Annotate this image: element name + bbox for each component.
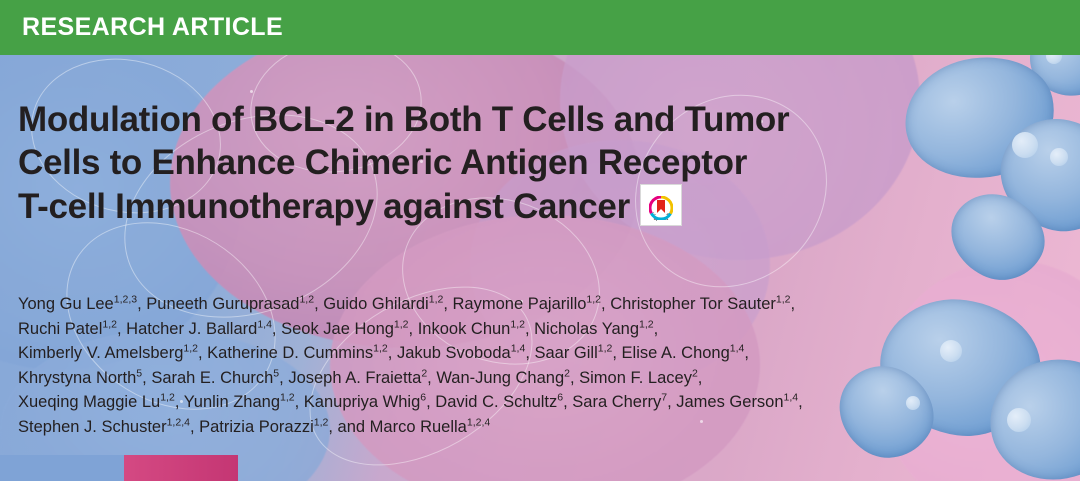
- author-name: Nicholas Yang: [534, 320, 639, 338]
- author-affiliation-marker: 1,4: [257, 318, 272, 330]
- author-name: Stephen J. Schuster: [18, 418, 167, 436]
- author-affiliation-marker: 1,2: [373, 343, 388, 355]
- crossmark-icon: [649, 187, 673, 211]
- title-line-1: Modulation of BCL-2 in Both T Cells and …: [18, 98, 1018, 141]
- author-affiliation-marker: 1,2: [586, 294, 601, 306]
- author-name: Joseph A. Fraietta: [288, 369, 421, 387]
- author-separator: ,: [563, 393, 572, 411]
- author-affiliation-marker: 1,4: [784, 392, 799, 404]
- author-separator: ,: [426, 393, 435, 411]
- author-line: Ruchi Patel1,2, Hatcher J. Ballard1,4, S…: [18, 317, 1038, 342]
- author-affiliation-marker: 1,2: [160, 392, 175, 404]
- author-name: Kimberly V. Amelsberg: [18, 344, 183, 362]
- author-affiliation-marker: 1,2: [510, 318, 525, 330]
- author-affiliation-marker: 1,2,3: [114, 294, 137, 306]
- author-name: Christopher Tor Sauter: [610, 295, 776, 313]
- author-name: David C. Schultz: [435, 393, 557, 411]
- author-separator: ,: [295, 393, 304, 411]
- author-affiliation-marker: 1,2: [598, 343, 613, 355]
- author-separator: ,: [142, 369, 151, 387]
- author-affiliation-marker: 1,2,4: [167, 416, 190, 428]
- author-list: Yong Gu Lee1,2,3, Puneeth Guruprasad1,2,…: [18, 292, 1038, 440]
- author-affiliation-marker: 1,2: [314, 416, 329, 428]
- author-name: Sarah E. Church: [151, 369, 273, 387]
- author-separator: ,: [409, 320, 418, 338]
- author-name: Raymone Pajarillo: [453, 295, 587, 313]
- title-line-2: Cells to Enhance Chimeric Antigen Recept…: [18, 141, 1018, 184]
- author-affiliation-marker: 1,2: [776, 294, 791, 306]
- author-affiliation-marker: 1,2: [102, 318, 117, 330]
- article-title: Modulation of BCL-2 in Both T Cells and …: [18, 98, 1018, 228]
- author-affiliation-marker: 1,2: [429, 294, 444, 306]
- title-line-3-row: T-cell Immunotherapy against Cancer Chec…: [18, 184, 1018, 228]
- author-separator: ,: [279, 369, 288, 387]
- author-separator: ,: [570, 369, 579, 387]
- background-magenta-edge: [118, 455, 238, 481]
- author-separator: ,: [744, 344, 749, 362]
- author-name: Khrystyna North: [18, 369, 136, 387]
- author-separator: ,: [612, 344, 621, 362]
- author-separator: ,: [601, 295, 610, 313]
- author-separator: ,: [667, 393, 676, 411]
- author-separator: ,: [388, 344, 397, 362]
- author-line: Khrystyna North5, Sarah E. Church5, Jose…: [18, 366, 1038, 391]
- author-separator: ,: [198, 344, 207, 362]
- author-name: Wan-Jung Chang: [436, 369, 564, 387]
- author-name: Yunlin Zhang: [184, 393, 280, 411]
- author-name: Jakub Svoboda: [397, 344, 511, 362]
- author-affiliation-marker: 1,4: [511, 343, 526, 355]
- author-separator: , and: [328, 418, 369, 436]
- author-separator: ,: [190, 418, 199, 436]
- author-affiliation-marker: 1,4: [730, 343, 745, 355]
- author-name: Kanupriya Whig: [304, 393, 420, 411]
- author-line: Kimberly V. Amelsberg1,2, Katherine D. C…: [18, 341, 1038, 366]
- author-affiliation-marker: 1,2,4: [467, 416, 490, 428]
- research-article-banner: RESEARCH ARTICLE: [0, 0, 1080, 55]
- article-cover-page: RESEARCH ARTICLE Modulation of BCL-2 in …: [0, 0, 1080, 481]
- author-name: Puneeth Guruprasad: [146, 295, 299, 313]
- author-separator: ,: [698, 369, 703, 387]
- author-name: Ruchi Patel: [18, 320, 102, 338]
- author-separator: ,: [272, 320, 281, 338]
- author-name: Katherine D. Cummins: [207, 344, 373, 362]
- author-name: Elise A. Chong: [622, 344, 730, 362]
- background-speck: [250, 90, 253, 93]
- author-separator: ,: [427, 369, 436, 387]
- author-separator: ,: [791, 295, 796, 313]
- author-separator: ,: [175, 393, 184, 411]
- author-affiliation-marker: 1,2: [183, 343, 198, 355]
- author-separator: ,: [654, 320, 659, 338]
- author-affiliation-marker: 1,2: [639, 318, 654, 330]
- author-separator: ,: [798, 393, 803, 411]
- author-name: Marco Ruella: [370, 418, 467, 436]
- author-name: Simon F. Lacey: [579, 369, 692, 387]
- author-name: Saar Gill: [534, 344, 597, 362]
- author-name: Seok Jae Hong: [281, 320, 394, 338]
- author-affiliation-marker: 1,2: [299, 294, 314, 306]
- author-separator: ,: [117, 320, 126, 338]
- author-name: Sara Cherry: [572, 393, 661, 411]
- title-line-3: T-cell Immunotherapy against Cancer: [18, 185, 630, 228]
- author-separator: ,: [525, 320, 534, 338]
- author-name: Yong Gu Lee: [18, 295, 114, 313]
- author-line: Xueqing Maggie Lu1,2, Yunlin Zhang1,2, K…: [18, 390, 1038, 415]
- author-name: Guido Ghilardi: [323, 295, 428, 313]
- background-cell-nucleus: [1050, 148, 1068, 166]
- research-article-label: RESEARCH ARTICLE: [0, 13, 283, 42]
- check-for-updates-badge[interactable]: Check for updates: [640, 184, 682, 226]
- author-name: Xueqing Maggie Lu: [18, 393, 160, 411]
- author-line: Yong Gu Lee1,2,3, Puneeth Guruprasad1,2,…: [18, 292, 1038, 317]
- author-name: Hatcher J. Ballard: [126, 320, 257, 338]
- author-line: Stephen J. Schuster1,2,4, Patrizia Poraz…: [18, 415, 1038, 440]
- author-separator: ,: [314, 295, 323, 313]
- author-name: Inkook Chun: [418, 320, 511, 338]
- author-name: James Gerson: [676, 393, 783, 411]
- background-blue-edge: [0, 455, 124, 481]
- author-separator: ,: [137, 295, 146, 313]
- author-affiliation-marker: 1,2: [394, 318, 409, 330]
- author-affiliation-marker: 1,2: [280, 392, 295, 404]
- author-separator: ,: [443, 295, 452, 313]
- author-name: Patrizia Porazzi: [199, 418, 314, 436]
